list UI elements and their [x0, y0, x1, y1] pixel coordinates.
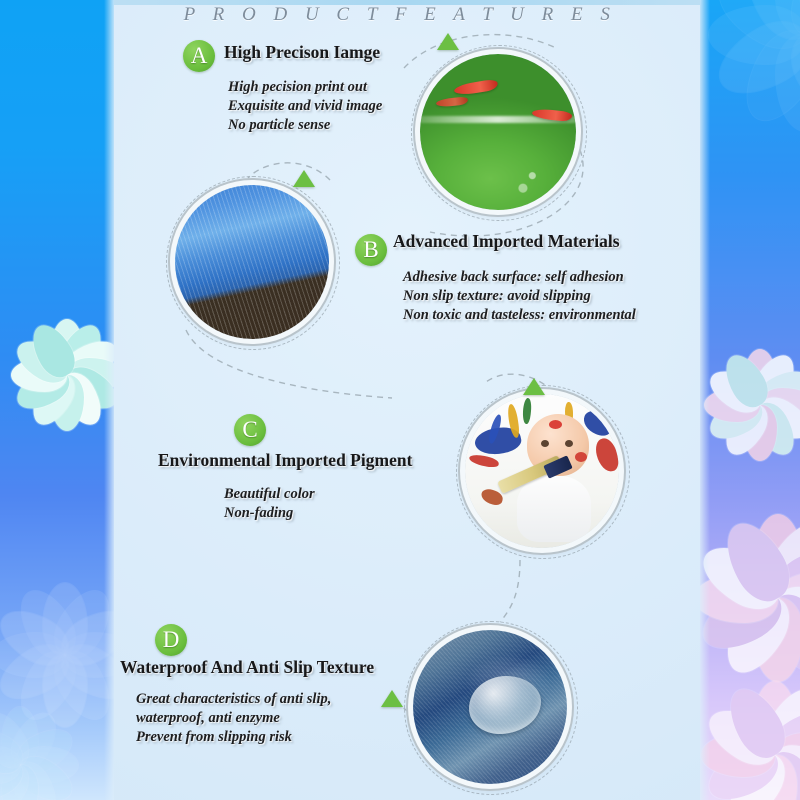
- content-panel: [114, 0, 700, 800]
- page-title: P R O D U C T F E A T U R E S: [0, 4, 800, 26]
- feature-d-bullet-3: Prevent from slipping risk: [136, 728, 331, 747]
- feature-a-bullets: High pecision print out Exquisite and vi…: [228, 78, 382, 135]
- flower-rosette-icon: [700, 660, 800, 800]
- feature-d-heading: Waterproof And Anti Slip Texture: [120, 657, 374, 678]
- photo-b-imported-material: [175, 185, 329, 339]
- arrow-up-a-icon: [437, 33, 459, 50]
- feature-c-bullet-1: Beautiful color: [224, 485, 315, 504]
- feature-b-bullet-1: Adhesive back surface: self adhesion: [403, 268, 636, 287]
- feature-a-bullet-3: No particle sense: [228, 116, 382, 135]
- photo-c-baby-painting: [465, 394, 619, 548]
- feature-b-bullet-2: Non slip texture: avoid slipping: [403, 287, 636, 306]
- feature-c-bullets: Beautiful color Non-fading: [224, 485, 315, 523]
- badge-letter-a: A: [183, 40, 215, 72]
- arrow-up-b-icon: [293, 170, 315, 187]
- feature-a-bullet-2: Exquisite and vivid image: [228, 97, 382, 116]
- feature-d-bullets: Great characteristics of anti slip, wate…: [136, 690, 331, 747]
- badge-letter-d: D: [155, 624, 187, 656]
- photo-d-waterproof-surface: [413, 630, 567, 784]
- feature-b-heading: Advanced Imported Materials: [393, 231, 620, 252]
- feature-b-bullets: Adhesive back surface: self adhesion Non…: [403, 268, 636, 325]
- feature-d-bullet-2: waterproof, anti enzyme: [136, 709, 331, 728]
- flower-rosette-icon: [0, 690, 95, 800]
- badge-letter-b: B: [355, 234, 387, 266]
- badge-letter-c: C: [234, 414, 266, 446]
- arrow-up-d-icon: [381, 690, 403, 707]
- feature-c-bullet-2: Non-fading: [224, 504, 315, 523]
- right-decorative-band: [700, 0, 800, 800]
- infographic-canvas: P R O D U C T F E A T U R E S A High Pre…: [0, 0, 800, 800]
- feature-a-bullet-1: High pecision print out: [228, 78, 382, 97]
- left-decorative-band: [0, 0, 114, 800]
- flower-rosette-icon: [0, 300, 114, 450]
- arrow-up-c-icon: [523, 378, 545, 395]
- feature-c-heading: Environmental Imported Pigment: [158, 450, 412, 471]
- feature-b-bullet-3: Non toxic and tasteless: environmental: [403, 306, 636, 325]
- feature-d-bullet-1: Great characteristics of anti slip,: [136, 690, 331, 709]
- flower-rosette-icon: [700, 330, 800, 480]
- page-header: P R O D U C T F E A T U R E S: [0, 4, 800, 26]
- feature-a-heading: High Precison Iamge: [224, 42, 380, 63]
- photo-a-high-precision-image: [420, 54, 576, 210]
